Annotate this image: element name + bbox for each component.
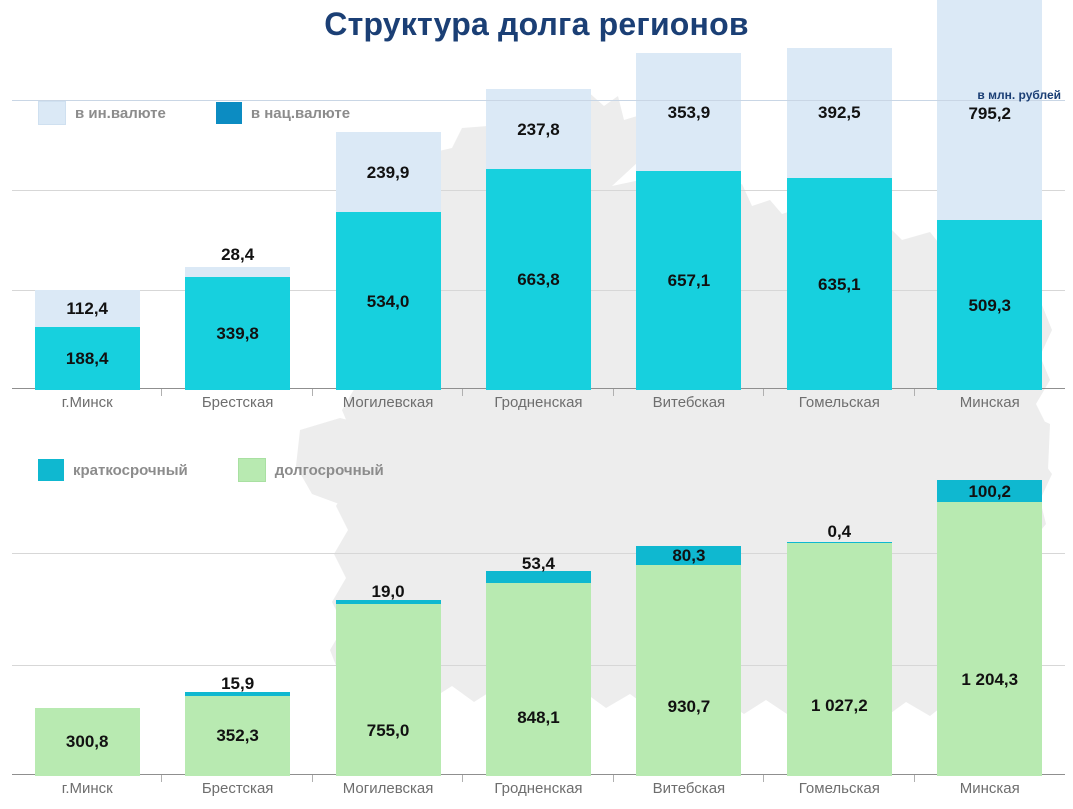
segment-short-term[interactable]: 80,3 [636,546,741,564]
segment-long-term[interactable]: 848,1 [486,583,591,776]
legend-item-foreign-currency[interactable]: в ин.валюте [38,101,166,125]
legend-item-short-term[interactable]: краткосрочный [38,459,188,481]
segment-value-short: 15,9 [221,675,254,692]
category-label: Брестская [162,780,312,797]
legend-label-long-term: долгосрочный [275,462,384,479]
stacked-bar[interactable]: 19,0 755,0 [336,600,441,776]
legend-term: краткосрочный долгосрочный [38,458,424,482]
segment-national-currency[interactable]: 534,0 [336,212,441,390]
segment-value-national: 188,4 [66,350,109,367]
category-label: Гомельская [764,780,914,797]
bar-slot-brestskaya: 28,4 339,8 [162,118,312,390]
x-axis-labels-chart1: г.Минск Брестская Могилевская Гродненска… [12,394,1065,411]
bar-slot-vitebskaya: 353,9 657,1 [614,118,764,390]
plot-area-term: 300,8 15,9 352,3 19,0 [12,478,1065,776]
category-label: г.Минск [12,394,162,411]
stacked-bar[interactable]: 392,5 635,1 [787,48,892,390]
segment-foreign-currency[interactable]: 392,5 [787,48,892,179]
category-label: Брестская [162,394,312,411]
bar-slot-grodnenskaya: 237,8 663,8 [463,118,613,390]
category-label: Минская [915,780,1065,797]
category-label: Витебская [614,394,764,411]
bar-slot-minskaya: 795,2 509,3 [915,118,1065,390]
segment-value-national: 339,8 [216,325,259,342]
x-axis-labels-chart2: г.Минск Брестская Могилевская Гродненска… [12,780,1065,797]
segment-foreign-currency[interactable]: 28,4 [185,267,290,277]
stacked-bar[interactable]: 28,4 339,8 [185,267,290,390]
segment-value-long: 1 027,2 [811,697,868,714]
legend-swatch-short-term [38,459,64,481]
category-label: Минская [915,394,1065,411]
category-label: Гродненская [463,780,613,797]
legend-item-long-term[interactable]: долгосрочный [238,458,384,482]
segment-value-short: 0,4 [827,523,851,540]
segment-value-national: 534,0 [367,293,410,310]
segment-short-term[interactable]: 53,4 [486,571,591,583]
segment-national-currency[interactable]: 188,4 [35,327,140,390]
legend-currency: в ин.валюте в нац.валюте [38,101,390,125]
segment-value-foreign: 353,9 [668,104,711,121]
segment-national-currency[interactable]: 663,8 [486,169,591,390]
bar-slot-grodnenskaya: 53,4 848,1 [463,478,613,776]
segment-national-currency[interactable]: 339,8 [185,277,290,390]
chart-debt-by-term: 300,8 15,9 352,3 19,0 [0,478,1073,776]
segment-long-term[interactable]: 930,7 [636,565,741,777]
segment-national-currency[interactable]: 509,3 [937,220,1042,390]
stacked-bar[interactable]: 239,9 534,0 [336,132,441,390]
segment-foreign-currency[interactable]: 237,8 [486,89,591,168]
segment-value-long: 930,7 [668,698,711,715]
segment-value-foreign: 239,9 [367,164,410,181]
segment-value-short: 53,4 [522,555,555,572]
stacked-bar[interactable]: 53,4 848,1 [486,571,591,776]
segment-foreign-currency[interactable]: 112,4 [35,290,140,328]
plot-area-currency: 112,4 188,4 28,4 339,8 [12,118,1065,390]
bar-slot-mogilevskaya: 239,9 534,0 [313,118,463,390]
segment-national-currency[interactable]: 657,1 [636,171,741,390]
bar-group-term: 300,8 15,9 352,3 19,0 [12,478,1065,776]
segment-value-long: 1 204,3 [961,671,1018,688]
legend-swatch-long-term [238,458,266,482]
stacked-bar[interactable]: 0,4 1 027,2 [787,542,892,776]
stacked-bar[interactable]: 237,8 663,8 [486,89,591,390]
legend-item-national-currency[interactable]: в нац.валюте [216,102,350,124]
segment-value-long: 300,8 [66,733,109,750]
stacked-bar[interactable]: 15,9 352,3 [185,692,290,776]
stacked-bar[interactable]: 100,2 1 204,3 [937,480,1042,776]
segment-value-long: 848,1 [517,709,560,726]
segment-value-foreign: 28,4 [221,246,254,263]
stacked-bar[interactable]: 300,8 [35,708,140,776]
category-label: Витебская [614,780,764,797]
segment-long-term[interactable]: 352,3 [185,696,290,776]
segment-long-term[interactable]: 300,8 [35,708,140,776]
segment-value-short: 80,3 [672,547,705,564]
segment-foreign-currency[interactable]: 239,9 [336,132,441,212]
segment-value-foreign: 237,8 [517,121,560,138]
segment-value-national: 509,3 [968,297,1011,314]
unit-label: в млн. рублей [977,88,1061,102]
bar-slot-mogilevskaya: 19,0 755,0 [313,478,463,776]
bar-slot-minsk-city: 300,8 [12,478,162,776]
segment-long-term[interactable]: 1 027,2 [787,543,892,776]
segment-value-short: 19,0 [372,583,405,600]
segment-long-term[interactable]: 755,0 [336,604,441,776]
stacked-bar[interactable]: 353,9 657,1 [636,53,741,390]
segment-value-foreign: 112,4 [66,300,108,317]
segment-value-long: 352,3 [216,727,259,744]
bar-slot-minskaya: 100,2 1 204,3 [915,478,1065,776]
legend-label-national-currency: в нац.валюте [251,105,350,122]
legend-swatch-national-currency [216,102,242,124]
segment-value-foreign: 392,5 [818,104,861,121]
bar-slot-gomelskaya: 0,4 1 027,2 [764,478,914,776]
chart-debt-by-currency: 112,4 188,4 28,4 339,8 [0,118,1073,390]
category-label: Могилевская [313,394,463,411]
category-label: г.Минск [12,780,162,797]
stacked-bar[interactable]: 80,3 930,7 [636,546,741,776]
segment-value-short: 100,2 [968,483,1011,500]
bar-slot-brestskaya: 15,9 352,3 [162,478,312,776]
segment-value-foreign: 795,2 [968,105,1011,122]
segment-value-long: 755,0 [367,722,410,739]
stacked-bar[interactable]: 112,4 188,4 [35,290,140,390]
bar-slot-vitebskaya: 80,3 930,7 [614,478,764,776]
segment-value-national: 663,8 [517,271,560,288]
category-label: Могилевская [313,780,463,797]
bar-slot-minsk-city: 112,4 188,4 [12,118,162,390]
segment-value-national: 635,1 [818,276,861,293]
stacked-bar[interactable]: 795,2 509,3 [937,0,1042,390]
segment-short-term[interactable]: 100,2 [937,480,1042,503]
bar-slot-gomelskaya: 392,5 635,1 [764,118,914,390]
bar-group-currency: 112,4 188,4 28,4 339,8 [12,118,1065,390]
segment-value-national: 657,1 [668,272,711,289]
segment-foreign-currency[interactable]: 353,9 [636,53,741,171]
legend-swatch-foreign-currency [38,101,66,125]
legend-label-foreign-currency: в ин.валюте [75,105,166,122]
category-label: Гомельская [764,394,914,411]
segment-national-currency[interactable]: 635,1 [787,178,892,390]
segment-long-term[interactable]: 1 204,3 [937,502,1042,776]
category-label: Гродненская [463,394,613,411]
legend-label-short-term: краткосрочный [73,462,188,479]
page-title: Структура долга регионов [0,6,1073,43]
